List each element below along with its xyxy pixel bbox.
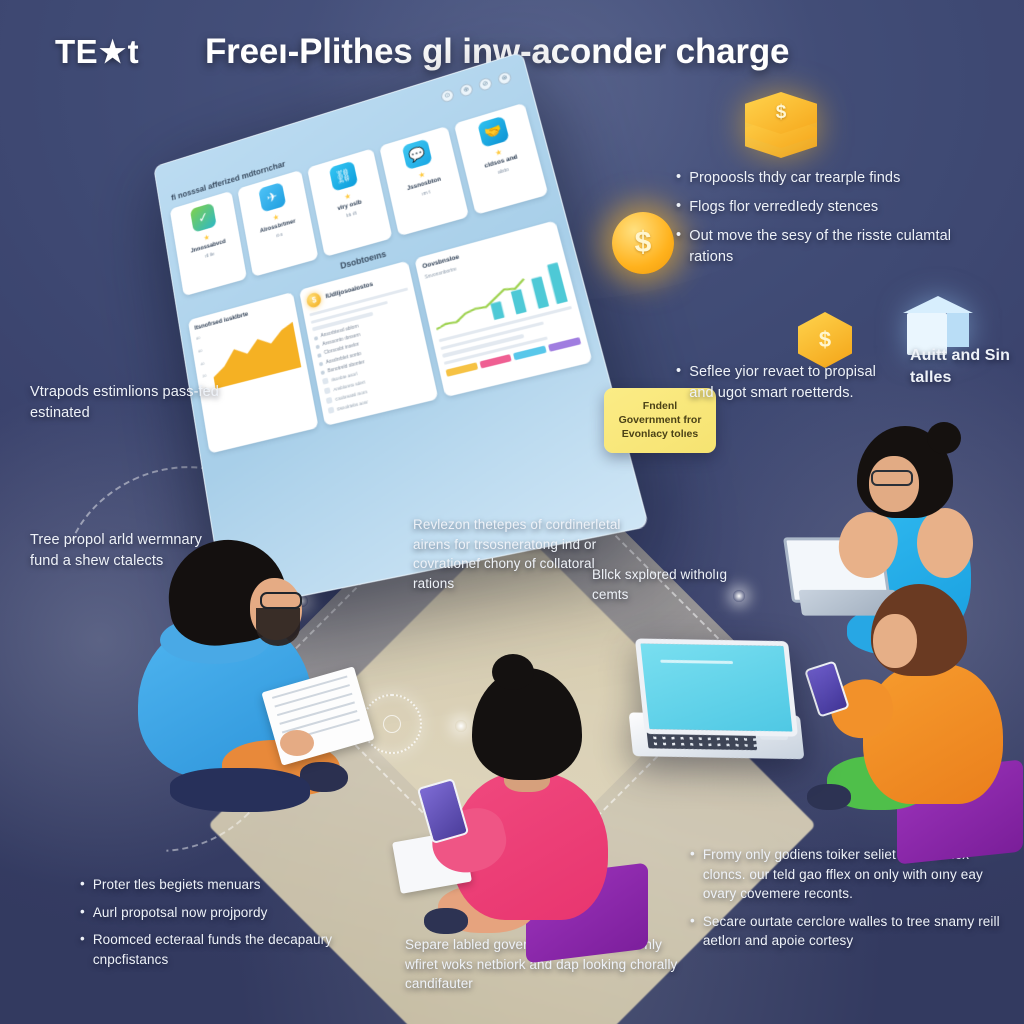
person-man-with-document (130, 530, 360, 830)
bullet-dot (314, 336, 318, 341)
glasses-icon (871, 470, 913, 486)
shield-check-icon: ✓ (190, 203, 217, 233)
laptop-open[interactable] (622, 631, 804, 773)
logo-tail: t (128, 33, 140, 71)
callout-line: Flogs flor verredIedy stences (689, 197, 878, 218)
callout-line: Aurl propotsal now projpordy (93, 903, 268, 923)
brand-logo: TE ★ t (55, 33, 139, 71)
window-button[interactable]: ⊘ (478, 76, 493, 91)
checkbox-icon[interactable] (328, 407, 335, 414)
callout-line: Propoosls thdy car trearple finds (689, 168, 900, 189)
callout-center-right: Bllck sxplored witholıg cemts (592, 565, 742, 607)
window-button[interactable]: ⊙ (440, 88, 455, 103)
window-button[interactable]: ⊕ (459, 82, 474, 97)
coin-icon: $ (306, 291, 322, 309)
bullet-dot (316, 344, 320, 349)
link-icon: ⛓ (329, 161, 358, 192)
callout-bottom-left: Proter tles begiets menuars Aurl propots… (80, 875, 380, 977)
swatch (548, 337, 582, 352)
infographic-canvas: TE ★ t Freeı-Plithes gl inw-aconder char… (0, 0, 1024, 1024)
callout-line: Seflee yior revaet to propisal and ugot … (689, 362, 886, 404)
check-item-label: Dsnolrtebs aonr (337, 399, 369, 411)
hex-token-icon: $ (798, 312, 852, 368)
rocket-icon: ✈ (258, 182, 286, 213)
bullet-dot (321, 371, 325, 376)
callout-line: Roomced ecteraal funds the decapaury cnp… (93, 930, 380, 969)
y-tick: 40 (200, 360, 205, 366)
dollar-glyph: $ (819, 327, 831, 353)
swatch (513, 345, 546, 360)
callout-top-right: Propoosls thdy car trearple finds Flogs … (676, 168, 966, 276)
star-icon: ★ (99, 38, 126, 68)
person-woman-with-phone (430, 660, 655, 950)
feature-tile[interactable]: ⛓ ★ vlry oslb lıtı ılt (307, 148, 393, 257)
glasses-icon (260, 592, 302, 609)
bullet-dot (317, 353, 321, 358)
laptop-screen (635, 638, 798, 736)
dollar-glyph: $ (635, 226, 652, 260)
activity-panel[interactable]: $ lUdlljosoalostos Ansorbtesd ablorn Are… (299, 260, 439, 425)
dollar-glyph: $ (776, 102, 787, 124)
bar-line-chart-panel[interactable]: Oovsbnsloe Snvonsnbortre (415, 220, 593, 397)
swatch (446, 362, 478, 376)
feature-tile[interactable]: ✈ ★ Alrossbrtmer ıt-s (237, 170, 318, 277)
logo-text: TE (55, 33, 98, 71)
callout-left-upper: Vtrapods estimlions pass-fed estinated (30, 382, 240, 427)
y-tick: 80 (196, 335, 201, 341)
y-tick: 60 (198, 348, 203, 354)
callout-line: Vtrapods estimlions pass-fed estinated (30, 382, 240, 424)
chat-icon: 💬 (402, 139, 433, 171)
callout-line: Bllck sxplored witholıg cemts (592, 565, 742, 604)
callout-line: Proter tles begiets menuars (93, 875, 261, 895)
callout-line: Out move the sesy of the risste culamtal… (689, 226, 966, 268)
callout-line: Secare ourtate cerclore walles to tree s… (703, 912, 1010, 951)
gold-coin-icon: $ (612, 212, 674, 274)
checkbox-icon[interactable] (324, 387, 331, 394)
window-button[interactable]: ⊗ (497, 70, 513, 85)
checkbox-icon[interactable] (326, 397, 333, 404)
swatch (479, 354, 512, 369)
feature-tile[interactable]: 💬 ★ Jssnosbton ım t (379, 126, 469, 236)
coin-stack-icon: $ (733, 84, 829, 162)
cube-label: Auitt and Sin talles (910, 345, 1024, 388)
callout-mid-right: Seflee yior revaet to propisal and ugot … (676, 362, 886, 412)
feature-tile[interactable]: ✓ ★ Jnnossabvcd ıtl ile (170, 191, 247, 297)
checkbox-icon[interactable] (322, 377, 329, 384)
feature-tile[interactable]: 🤝 ★ cldsos and alsto (454, 103, 549, 215)
bullet-dot (319, 362, 323, 367)
handshake-icon: 🤝 (477, 116, 509, 148)
person-orange-shirt (845, 580, 1024, 870)
hub-ring-icon (362, 694, 422, 754)
area-chart-panel[interactable]: Itsnofrsed iusklbrte 80 60 40 20 0 (188, 292, 319, 454)
y-tick: 20 (202, 373, 207, 379)
